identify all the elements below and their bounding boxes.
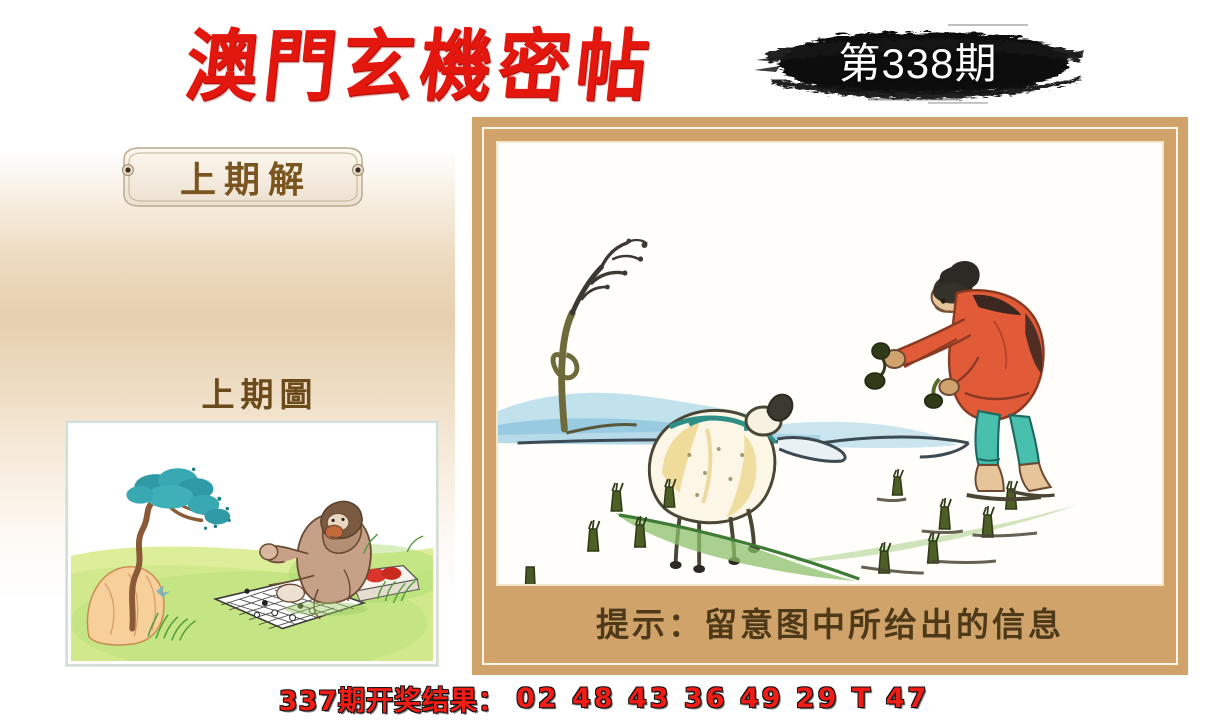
issue-badge-label: 第338期 bbox=[748, 18, 1088, 106]
current-issue-frame[interactable]: 提示：留意图中所给出的信息 bbox=[472, 117, 1188, 675]
plaque-label: 上期解 bbox=[118, 146, 368, 208]
lottery-result-line: 337期开奖结果： 02 48 43 36 49 29 T 47 bbox=[0, 678, 1208, 718]
previous-issue-illustration bbox=[71, 426, 433, 661]
frame-inner-border: 提示：留意图中所给出的信息 bbox=[482, 127, 1178, 665]
result-prefix: 337期开奖结果： bbox=[279, 679, 506, 718]
result-numbers: 02 48 43 36 49 29 T 47 bbox=[516, 683, 929, 714]
hint-text: 提示：留意图中所给出的信息 bbox=[484, 587, 1176, 657]
plaque-previous-solution[interactable]: 上期解 bbox=[118, 146, 368, 208]
previous-issue-thumbnail[interactable] bbox=[66, 421, 438, 666]
current-issue-illustration bbox=[496, 141, 1164, 586]
previous-image-label: 上期圖 bbox=[160, 368, 360, 416]
monkey-chess-illustration-icon bbox=[71, 426, 433, 661]
page-title-text: 澳門玄機密帖 bbox=[182, 27, 658, 105]
issue-badge: 第338期 bbox=[748, 18, 1088, 106]
goat-and-farmer-illustration-icon bbox=[498, 143, 1162, 584]
page-title: 澳門玄機密帖 bbox=[186, 22, 726, 110]
